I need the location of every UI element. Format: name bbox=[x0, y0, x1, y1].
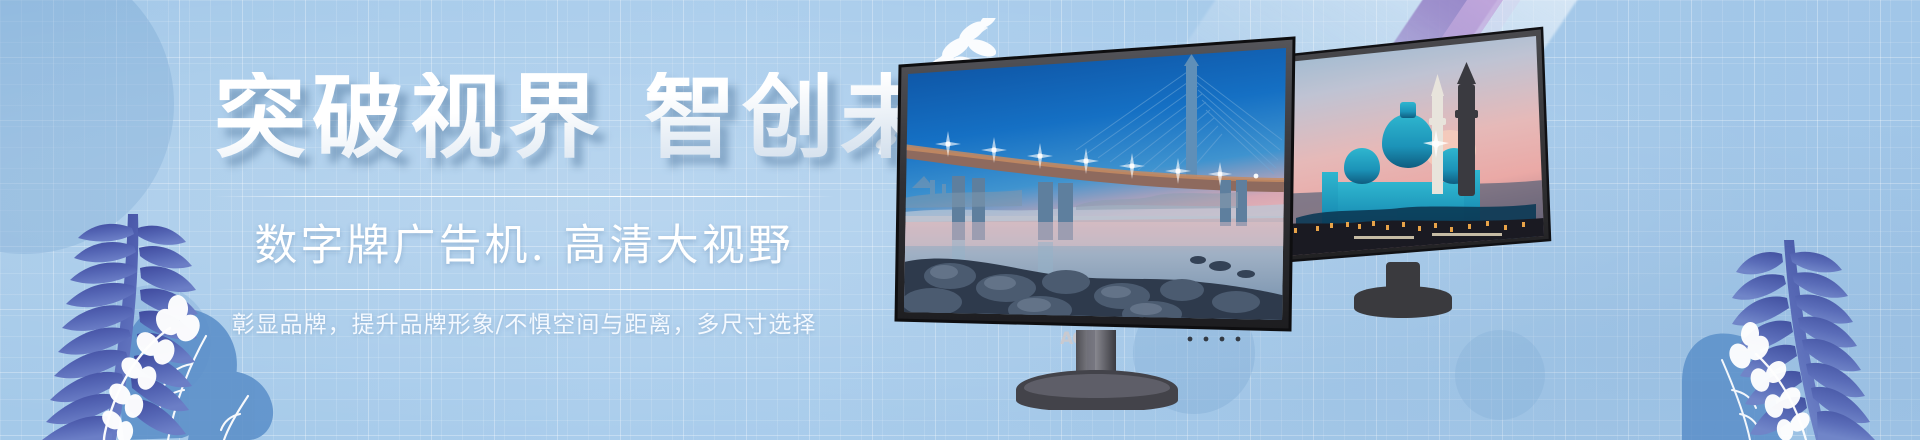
subheading: 数字牌广告机. 高清大视野 bbox=[214, 211, 834, 273]
tagline: 彰显品牌，提升品牌形象/不惧空间与距离，多尺寸选择 bbox=[214, 305, 834, 339]
promo-banner: 突破视界 智创未来 数字牌广告机. 高清大视野 彰显品牌，提升品牌形象/不惧空间… bbox=[0, 0, 1920, 440]
copy-block: 数字牌广告机. 高清大视野 彰显品牌，提升品牌形象/不惧空间与距离，多尺寸选择 bbox=[214, 196, 834, 339]
front-monitor: AOC bbox=[890, 30, 1310, 410]
monitor-group: AOC bbox=[880, 0, 1920, 440]
divider-bottom bbox=[214, 289, 834, 290]
divider-top bbox=[214, 196, 834, 197]
